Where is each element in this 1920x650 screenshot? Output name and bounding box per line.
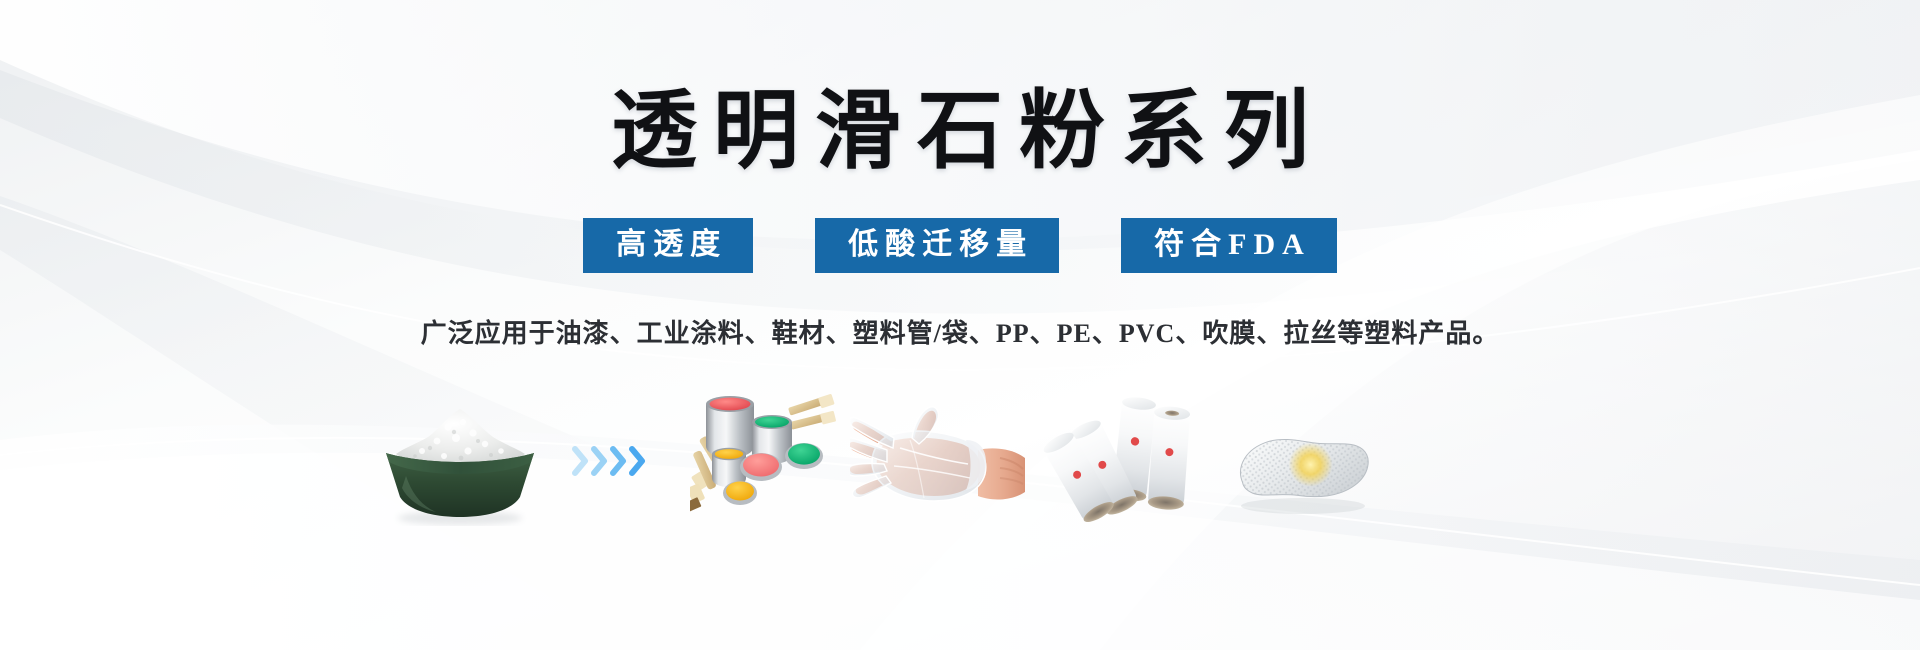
chevron-right-icon-4: [629, 446, 646, 476]
plastic-film-rolls: [1035, 396, 1200, 526]
paint-lid-green: [785, 443, 823, 469]
chevron-right-icon-1: [572, 446, 589, 476]
application-description: 广泛应用于油漆、工业涂料、鞋材、塑料管/袋、PP、PE、PVC、吹膜、拉丝等塑料…: [421, 313, 1500, 350]
chevron-right-icon-2: [591, 446, 608, 476]
feature-badge-transparency: 高透度: [583, 218, 753, 273]
feature-badge-fda-compliant: 符合FDA: [1121, 218, 1337, 273]
paint-cans: [690, 386, 840, 526]
chevron-right-icon-3: [610, 446, 627, 476]
film-roll-back-right: [1147, 406, 1190, 511]
product-banner: 透明滑石粉系列 高透度 低酸迁移量 符合FDA 广泛应用于油漆、工业涂料、鞋材、…: [0, 0, 1920, 650]
talc-powder-bowl: [360, 396, 560, 526]
product-strip: [360, 376, 1560, 526]
process-arrows: [572, 396, 682, 526]
shoe-sole: [1215, 406, 1380, 526]
page-title: 透明滑石粉系列: [595, 88, 1325, 174]
plastic-glove-hand: [850, 406, 1025, 526]
banner-content: 透明滑石粉系列 高透度 低酸迁移量 符合FDA 广泛应用于油漆、工业涂料、鞋材、…: [0, 0, 1920, 650]
feature-badge-low-acid-migration: 低酸迁移量: [815, 218, 1059, 273]
transparent-glove: [850, 407, 986, 501]
paint-lid-pink: [740, 453, 782, 481]
feature-badge-row: 高透度 低酸迁移量 符合FDA: [583, 218, 1337, 273]
paint-lid-yellow: [723, 481, 757, 505]
